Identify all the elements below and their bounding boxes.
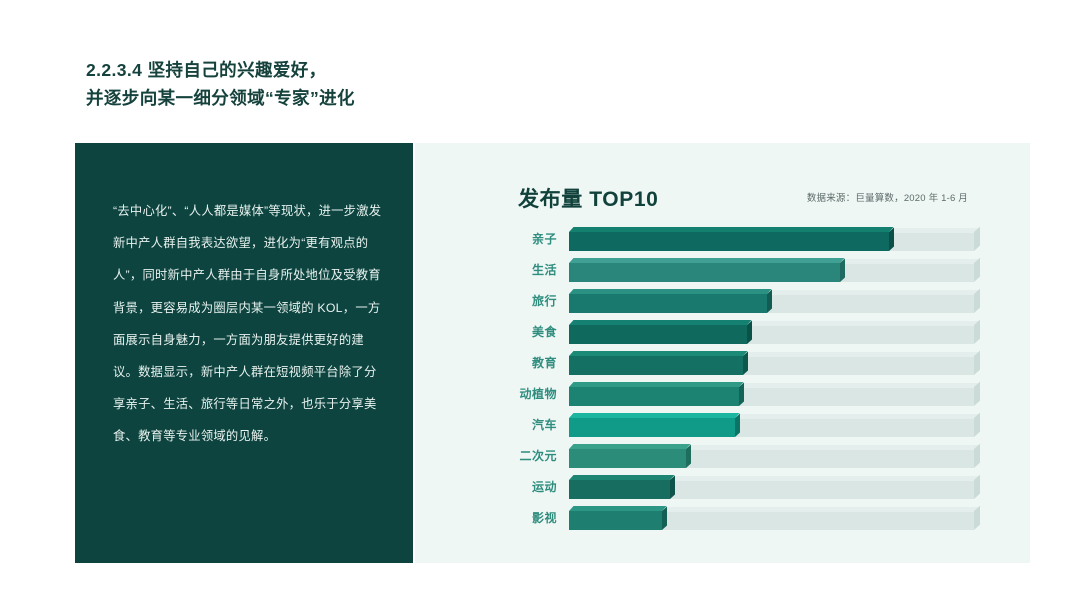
bar-front-face — [569, 511, 662, 530]
bar-category-label: 二次元 — [495, 445, 557, 467]
bar-front-face — [569, 449, 686, 468]
slide-canvas: 2.2.3.4 坚持自己的兴趣爱好， 并逐步向某一细分领域“专家”进化 “去中心… — [0, 0, 1080, 607]
bar-category-label: 生活 — [495, 259, 557, 281]
bar-top-face — [569, 351, 748, 356]
bar-row: 美食 — [495, 321, 1030, 352]
bar-value — [569, 356, 743, 375]
bar-front-face — [569, 387, 739, 406]
bar-category-label: 亲子 — [495, 228, 557, 250]
bar-front-face — [569, 418, 735, 437]
bar-track — [569, 414, 974, 440]
bar-value — [569, 449, 686, 468]
chart-source-note: 数据来源：巨量算数，2020 年 1-6 月 — [807, 190, 968, 204]
bar-top-face — [569, 320, 752, 325]
bar-track-side-face — [974, 413, 980, 437]
bar-row: 旅行 — [495, 290, 1030, 321]
bar-top-face — [569, 289, 772, 294]
bar-top-face — [569, 227, 893, 232]
bar-top-face — [569, 413, 740, 418]
bar-chart: 亲子生活旅行美食教育动植物汽车二次元运动影视 — [495, 228, 1030, 563]
narrative-panel: “去中心化”、“人人都是媒体”等现状，进一步激发新中产人群自我表达欲望，进化为“… — [75, 143, 413, 563]
bar-track — [569, 507, 974, 533]
bar-category-label: 教育 — [495, 352, 557, 374]
bar-value — [569, 294, 767, 313]
bar-front-face — [569, 232, 889, 251]
bar-top-face — [569, 382, 744, 387]
bar-track — [569, 445, 974, 471]
bar-value — [569, 325, 747, 344]
slide-heading: 2.2.3.4 坚持自己的兴趣爱好， 并逐步向某一细分领域“专家”进化 — [86, 56, 355, 113]
bar-row: 亲子 — [495, 228, 1030, 259]
bar-track — [569, 321, 974, 347]
chart-title: 发布量 TOP10 — [518, 183, 658, 213]
bar-front-face — [569, 263, 840, 282]
bar-value — [569, 263, 840, 282]
bar-top-face — [569, 444, 691, 449]
bar-track-side-face — [974, 506, 980, 530]
bar-track-side-face — [974, 258, 980, 282]
bar-top-face — [569, 506, 667, 511]
bar-row: 运动 — [495, 476, 1030, 507]
bar-value — [569, 232, 889, 251]
bar-category-label: 旅行 — [495, 290, 557, 312]
bar-track — [569, 228, 974, 254]
bar-track — [569, 476, 974, 502]
bar-front-face — [569, 480, 670, 499]
bar-front-face — [569, 325, 747, 344]
bar-row: 汽车 — [495, 414, 1030, 445]
narrative-text: “去中心化”、“人人都是媒体”等现状，进一步激发新中产人群自我表达欲望，进化为“… — [113, 195, 383, 453]
chart-panel: 发布量 TOP10 数据来源：巨量算数，2020 年 1-6 月 亲子生活旅行美… — [415, 143, 1030, 563]
bar-value — [569, 387, 739, 406]
bar-track — [569, 290, 974, 316]
bar-category-label: 汽车 — [495, 414, 557, 436]
bar-category-label: 动植物 — [495, 383, 557, 405]
bar-category-label: 运动 — [495, 476, 557, 498]
bar-track-side-face — [974, 475, 980, 499]
bar-track-side-face — [974, 320, 980, 344]
bar-top-face — [569, 475, 675, 480]
bar-track-side-face — [974, 227, 980, 251]
bar-track — [569, 352, 974, 378]
bar-track-side-face — [974, 382, 980, 406]
bar-row: 影视 — [495, 507, 1030, 538]
bar-row: 动植物 — [495, 383, 1030, 414]
bar-row: 教育 — [495, 352, 1030, 383]
bar-front-face — [569, 356, 743, 375]
bar-track — [569, 383, 974, 409]
bar-front-face — [569, 294, 767, 313]
bar-top-face — [569, 258, 845, 263]
bar-category-label: 美食 — [495, 321, 557, 343]
bar-track-side-face — [974, 351, 980, 375]
bar-track-side-face — [974, 289, 980, 313]
bar-track-side-face — [974, 444, 980, 468]
bar-value — [569, 418, 735, 437]
bar-value — [569, 480, 670, 499]
bar-row: 二次元 — [495, 445, 1030, 476]
bar-category-label: 影视 — [495, 507, 557, 529]
bar-row: 生活 — [495, 259, 1030, 290]
bar-value — [569, 511, 662, 530]
bar-track — [569, 259, 974, 285]
